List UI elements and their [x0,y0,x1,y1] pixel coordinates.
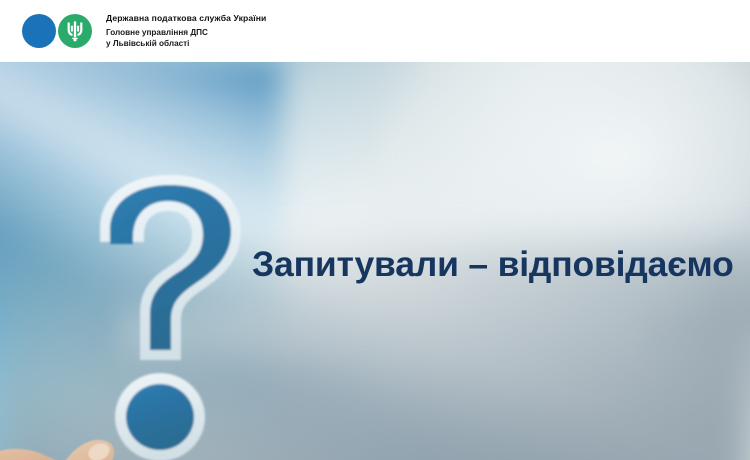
site-header: Державна податкова служба України Головн… [0,0,750,62]
blue-circle-icon [22,14,56,48]
hand-holding-icon [0,414,186,460]
department-name-line-1: Головне управління ДПС [106,27,266,38]
organization-name: Державна податкова служба України [106,13,266,24]
ukraine-trident-icon [67,21,84,42]
logo-text-block: Державна податкова служба України Головн… [106,13,266,50]
hero-banner: Запитували – відповідаємо [0,62,750,460]
page-root: Державна податкова служба України Головн… [0,0,750,460]
green-circle-icon [58,14,92,48]
department-name-line-2: у Львівській області [106,38,266,49]
logo[interactable] [22,14,92,48]
page-title: Запитували – відповідаємо [252,245,734,284]
hand-graphic [0,414,186,460]
department-name: Головне управління ДПС у Львівській обла… [106,27,266,49]
